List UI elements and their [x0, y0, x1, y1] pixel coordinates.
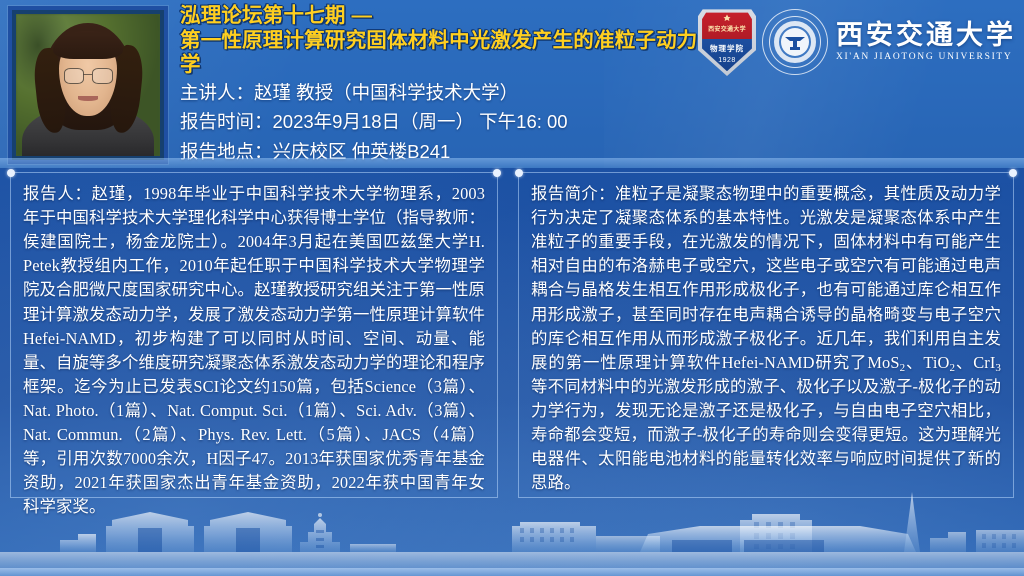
abstract-sub-mos2: 2 [900, 362, 906, 374]
photo-bangs [53, 31, 122, 59]
shield-mid-text: 物理学院 [698, 43, 756, 54]
photo-glasses-left [64, 68, 85, 84]
abstract-sub-tio2: 2 [949, 362, 955, 374]
shield-year-text: 1928 [698, 57, 756, 64]
abstract-part1: 报告简介：准粒子是凝聚态物理中的重要概念，其性质及动力学行为决定了凝聚态体系的基… [531, 184, 1001, 372]
photo-smile [78, 96, 98, 101]
shield-top-text: 西安交通大学 [698, 24, 756, 33]
corner-dot-icon [493, 169, 501, 177]
seal-anvil-icon [784, 34, 806, 52]
speaker-bio-box: 报告人：赵瑾，1998年毕业于中国科学技术大学物理系，2003年于中国科学技术大… [10, 172, 498, 498]
corner-dot-icon [7, 169, 15, 177]
header-text-block: 泓理论坛第十七期 — 第一性原理计算研究固体材料中光激发产生的准粒子动力学 主讲… [180, 4, 700, 168]
corner-dot-icon [1009, 169, 1017, 177]
abstract-box: 报告简介：准粒子是凝聚态物理中的重要概念，其性质及动力学行为决定了凝聚态体系的基… [518, 172, 1014, 498]
abstract-part2: 、TiO [905, 353, 949, 372]
speaker-portrait-photo [16, 14, 160, 156]
abstract-text: 报告简介：准粒子是凝聚态物理中的重要概念，其性质及动力学行为决定了凝聚态体系的基… [531, 182, 1001, 495]
xjtu-seal-icon [762, 9, 828, 75]
speaker-bio-text: 报告人：赵瑾，1998年毕业于中国科学技术大学物理系，2003年于中国科学技术大… [23, 182, 485, 520]
poster-title-line1: 泓理论坛第十七期 — [180, 4, 700, 28]
content-columns: 报告人：赵瑾，1998年毕业于中国科学技术大学物理系，2003年于中国科学技术大… [0, 172, 1024, 502]
photo-glasses-right [92, 68, 113, 84]
university-name-cn: 西安交通大学 [836, 22, 1016, 49]
abstract-part4: 等不同材料中的光激发形成的激子、极化子以及激子-极化子的动力学行为，发现无论是激… [531, 377, 1001, 492]
bottom-accent-strip [0, 568, 1024, 576]
abstract-sub-cri3: 3 [995, 362, 1001, 374]
abstract-part3: 、CrI [955, 353, 995, 372]
university-name-block: 西安交通大学 XI'AN JIAOTONG UNIVERSITY [836, 22, 1016, 62]
seminar-poster: 泓理论坛第十七期 — 第一性原理计算研究固体材料中光激发产生的准粒子动力学 主讲… [0, 0, 1024, 576]
logo-group: 西安交通大学 物理学院 1928 西安交通大学 XI'AN JIAOTONG U… [698, 6, 1016, 78]
photo-glasses-bridge [83, 74, 92, 76]
university-name-en: XI'AN JIAOTONG UNIVERSITY [836, 52, 1016, 62]
header-bottom-band [0, 158, 1024, 168]
time-line: 报告时间：2023年9月18日（周一） 下午16: 00 [180, 108, 700, 135]
speaker-line: 主讲人：赵瑾 教授（中国科学技术大学） [180, 79, 700, 106]
poster-title-line2: 第一性原理计算研究固体材料中光激发产生的准粒子动力学 [180, 29, 700, 77]
corner-dot-icon [515, 169, 523, 177]
physics-school-shield-icon: 西安交通大学 物理学院 1928 [698, 8, 756, 76]
poster-header: 泓理论坛第十七期 — 第一性原理计算研究固体材料中光激发产生的准粒子动力学 主讲… [0, 0, 1024, 168]
speaker-photo-frame [8, 6, 168, 164]
